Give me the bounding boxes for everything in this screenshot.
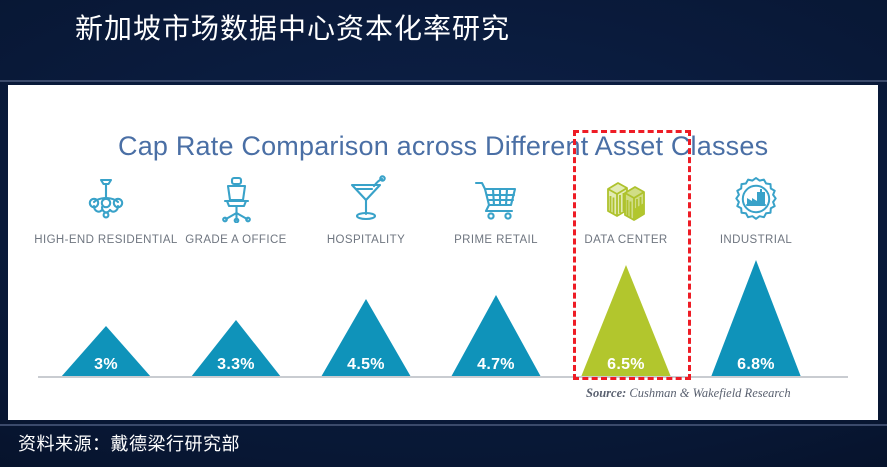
chart-column-prime-retail[interactable]: PRIME RETAIL 4.7% (431, 85, 561, 420)
data-center-highlight-box (573, 130, 691, 380)
chart-source-note: Source: Cushman & Wakefield Research (586, 386, 791, 401)
chart-baseline-axis (38, 376, 848, 378)
slide-header: 新加坡市场数据中心资本化率研究 (0, 0, 887, 80)
triangle-bar-wrap: 4.7% (431, 197, 561, 377)
chart-column-hospitality[interactable]: HOSPITALITY 4.5% (301, 85, 431, 420)
chart-column-high-end-residential[interactable]: HIGH-END RESIDENTIAL 3% (41, 85, 171, 420)
bar-value-label: 6.8% (737, 356, 775, 374)
footer-divider (0, 424, 887, 426)
footer-caption: 资料来源：戴德梁行研究部 (18, 431, 240, 457)
bar-value-label: 4.5% (347, 356, 385, 374)
triangle-bar-wrap: 6.8% (691, 197, 821, 377)
triangle-bar-wrap: 4.5% (301, 197, 431, 377)
triangle-bar-wrap: 3% (41, 197, 171, 377)
chart-columns: HIGH-END RESIDENTIAL 3% (8, 85, 878, 420)
page-title: 新加坡市场数据中心资本化率研究 (75, 9, 510, 49)
header-divider (0, 80, 887, 82)
bar-value-label: 3.3% (217, 356, 255, 374)
bar-value-label: 3% (94, 356, 118, 374)
triangle-bar-wrap: 3.3% (171, 197, 301, 377)
source-prefix: Source: (586, 386, 626, 400)
source-text: Cushman & Wakefield Research (626, 386, 790, 400)
chart-column-grade-a-office[interactable]: GRADE A OFFICE 3.3% (171, 85, 301, 420)
bar-value-label: 4.7% (477, 356, 515, 374)
chart-card: Cap Rate Comparison across Different Ass… (8, 85, 878, 420)
chart-column-industrial[interactable]: INDUSTRIAL 6.8% (691, 85, 821, 420)
